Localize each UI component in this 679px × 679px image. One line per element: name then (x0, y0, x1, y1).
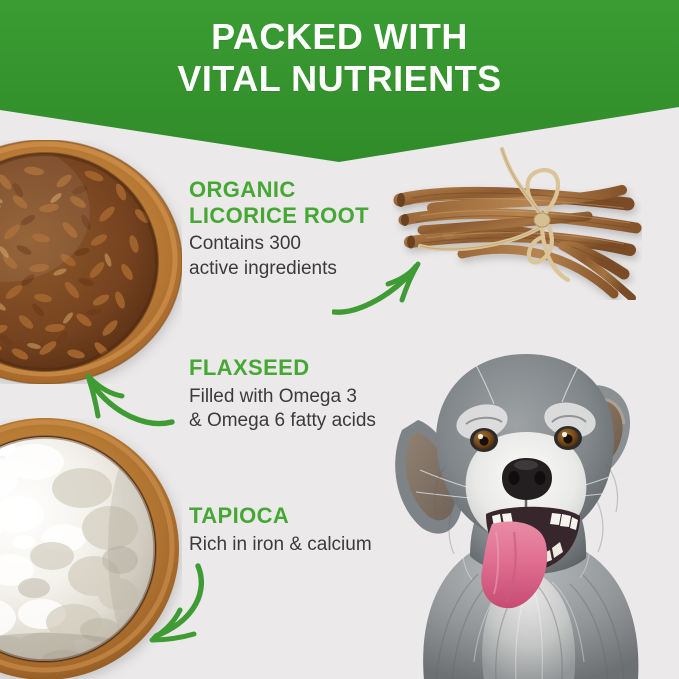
arrow-to-flaxseed-icon (78, 366, 176, 430)
callout-tapioca: TAPIOCA Rich in iron & calcium (189, 503, 404, 557)
infographic-canvas: PACKED WITH VITAL NUTRIENTS ORGANIC LICO… (0, 0, 679, 679)
callout-flaxseed: FLAXSEED Filled with Omega 3 & Omega 6 f… (189, 355, 404, 434)
callout-body: Contains 300 active ingredients (189, 232, 404, 281)
callout-organic-licorice-root: ORGANIC LICORICE ROOT Contains 300 activ… (189, 177, 404, 281)
callout-body: Filled with Omega 3 & Omega 6 fatty acid… (189, 385, 404, 434)
arrow-to-tapioca-icon (140, 560, 218, 652)
page-title: PACKED WITH VITAL NUTRIENTS (0, 16, 679, 101)
callout-body: Rich in iron & calcium (189, 533, 404, 558)
dog-photo (366, 292, 679, 679)
callout-heading: ORGANIC LICORICE ROOT (189, 177, 404, 228)
header-banner: PACKED WITH VITAL NUTRIENTS (0, 0, 679, 162)
callout-heading: TAPIOCA (189, 503, 404, 529)
callout-heading: FLAXSEED (189, 355, 404, 381)
flaxseed-bowl-image (0, 140, 182, 384)
